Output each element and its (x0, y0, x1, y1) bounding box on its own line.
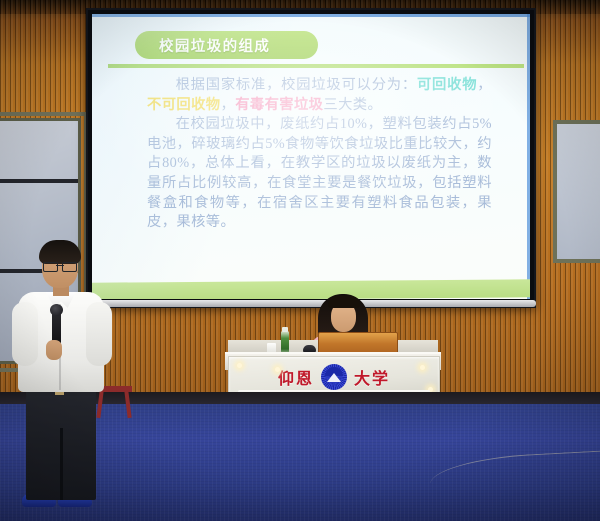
p1-suffix: 三大类。 (323, 97, 382, 113)
hair (39, 240, 81, 264)
slide-paragraph-1: 根据国家标准，校园垃圾可以分为：可回收物，不可回收物，有毒有害垃圾三大类。 (147, 76, 492, 115)
sign-text-right: 大学 (354, 365, 390, 389)
slide-top-accent (92, 14, 530, 17)
separator-2: ， (220, 97, 235, 113)
keyword-non-recyclable: 不可回收物 (147, 97, 220, 113)
lens-right (62, 262, 77, 272)
sign-light (237, 363, 242, 368)
presentation-slide: 校园垃圾的组成 根据国家标准，校园垃圾可以分为：可回收物，不可回收物，有毒有害垃… (92, 14, 530, 299)
keyword-recyclable: 可回收物 (417, 77, 477, 93)
stool-leg (124, 391, 131, 418)
microphone-head (50, 304, 63, 316)
sign-text-left: 仰恩 (278, 365, 314, 389)
glasses-icon (43, 262, 77, 270)
sign-light (275, 367, 280, 372)
hair-fringe (328, 296, 360, 308)
whiteboard-panel-right (553, 120, 600, 263)
slide-body-text: 根据国家标准，校园垃圾可以分为：可回收物，不可回收物，有毒有害垃圾三大类。 在校… (147, 76, 492, 233)
arm-right (86, 302, 112, 366)
sign-light (420, 365, 425, 370)
university-emblem-icon (321, 364, 347, 390)
projection-screen: 校园垃圾的组成 根据国家标准，校园垃圾可以分为：可回收物，不可回收物，有毒有害垃… (86, 8, 536, 308)
keyword-toxic: 有毒有害垃圾 (235, 97, 323, 113)
hand (46, 340, 62, 360)
slide-side-accent (527, 14, 530, 299)
slide-title: 校园垃圾的组成 (159, 35, 270, 56)
lens-left (43, 262, 58, 272)
bottle-cap (282, 327, 288, 332)
slide-title-rule (108, 64, 524, 68)
slide-paragraph-2: 在校园垃圾中，废纸约占10%，塑料包装约占5%电池，碎玻璃约占5%食物等饮食垃圾… (147, 115, 492, 233)
trouser-seam (60, 428, 63, 500)
lecture-hall-photo: 校园垃圾的组成 根据国家标准，校园垃圾可以分为：可回收物，不可回收物，有毒有害垃… (0, 0, 600, 521)
slide-title-banner: 校园垃圾的组成 (135, 31, 318, 59)
speaker-person (10, 232, 114, 512)
p1-prefix: 根据国家标准，校园垃圾可以分为： (176, 77, 417, 93)
separator-1: ， (477, 77, 492, 93)
arm-left (12, 302, 38, 366)
